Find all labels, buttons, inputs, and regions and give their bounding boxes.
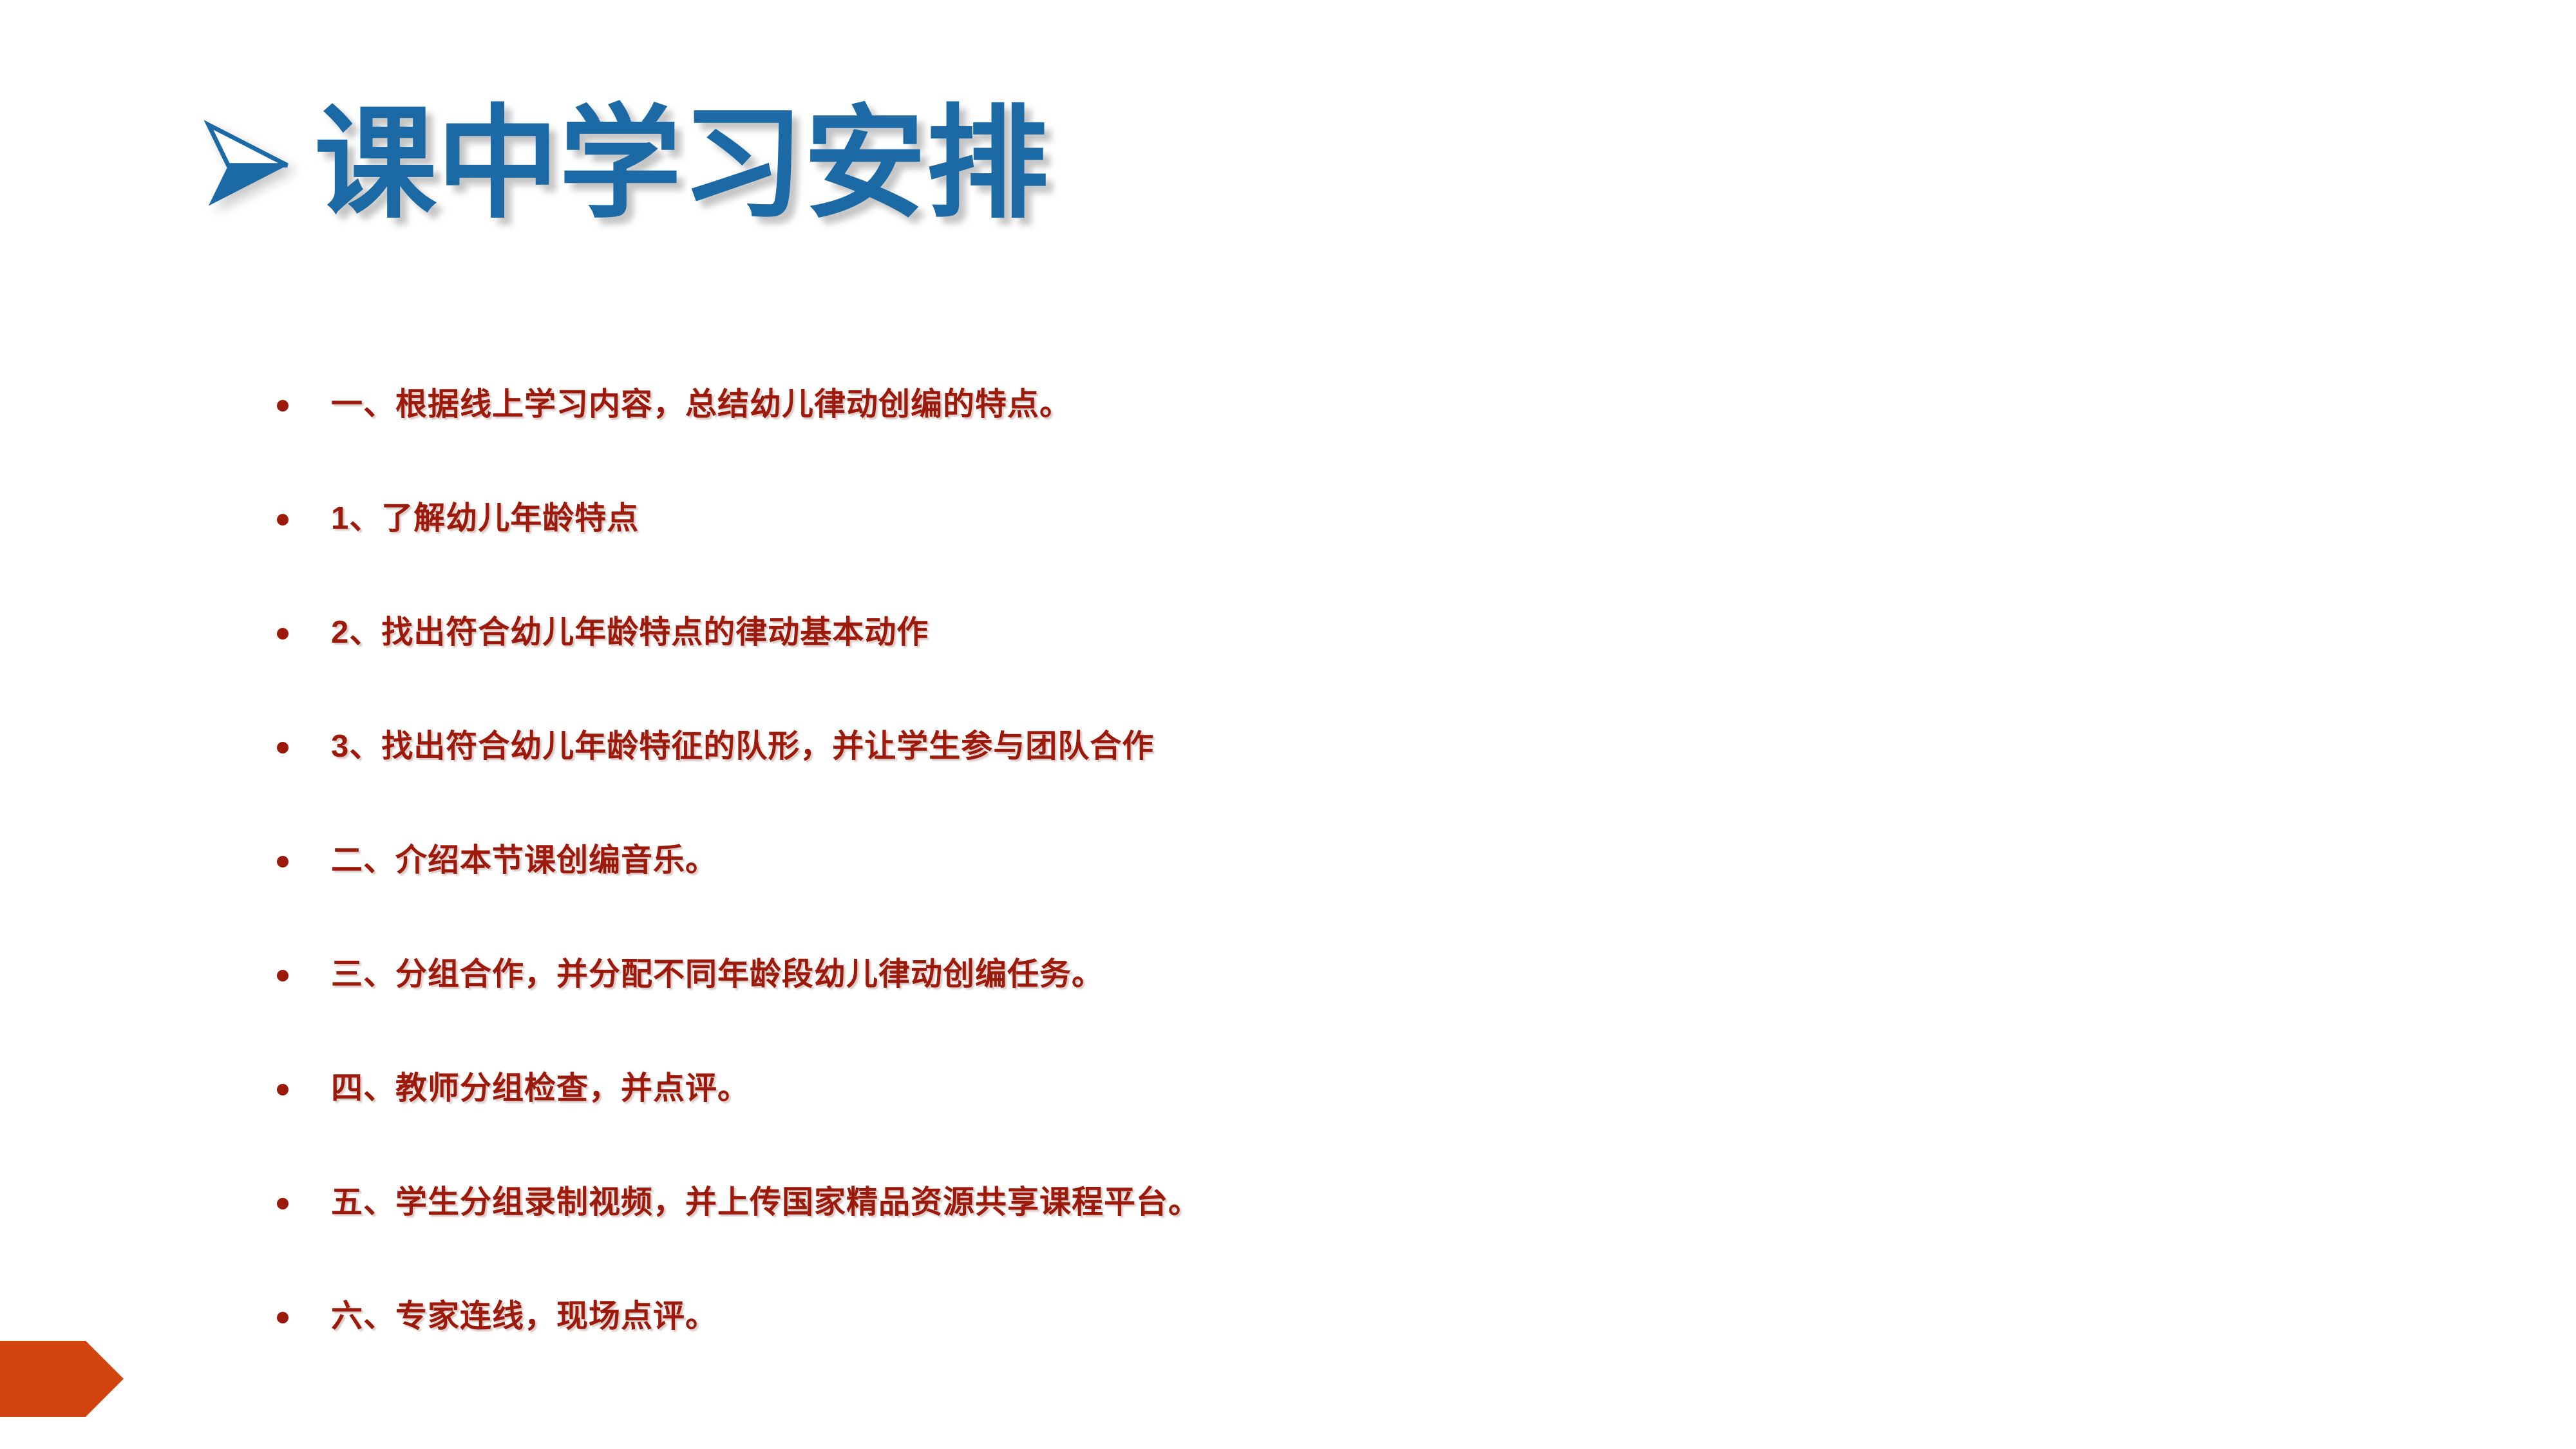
list-item-label: 三、分组合作，并分配不同年龄段幼儿律动创编任务。 xyxy=(331,958,1104,992)
arrow-right-triangle-icon xyxy=(193,109,303,219)
round-dot-bullet-icon xyxy=(277,1084,289,1095)
round-dot-bullet-icon xyxy=(277,742,289,753)
round-dot-bullet-icon xyxy=(277,628,289,639)
round-dot-bullet-icon xyxy=(277,400,289,412)
list-item: 1、了解幼儿年龄特点 xyxy=(277,462,2499,576)
list-item: 3、找出符合幼儿年龄特征的队形，并让学生参与团队合作 xyxy=(277,690,2499,804)
slide-title-row: 课中学习安排 xyxy=(193,103,1048,225)
list-item-label: 一、根据线上学习内容，总结幼儿律动创编的特点。 xyxy=(331,388,1072,422)
list-item: 一、根据线上学习内容，总结幼儿律动创编的特点。 xyxy=(277,348,2499,462)
list-item: 2、找出符合幼儿年龄特点的律动基本动作 xyxy=(277,576,2499,690)
presentation-slide: 课中学习安排 一、根据线上学习内容，总结幼儿律动创编的特点。 1、了解幼儿年龄特… xyxy=(0,0,2576,1449)
round-dot-bullet-icon xyxy=(277,1198,289,1209)
list-item: 二、介绍本节课创编音乐。 xyxy=(277,804,2499,918)
list-item-label: 四、教师分组检查，并点评。 xyxy=(331,1072,750,1106)
round-dot-bullet-icon xyxy=(277,970,289,981)
list-item-label: 3、找出符合幼儿年龄特征的队形，并让学生参与团队合作 xyxy=(331,730,1154,764)
list-item-label: 二、介绍本节课创编音乐。 xyxy=(331,844,717,878)
list-item: 六、专家连线，现场点评。 xyxy=(277,1260,2499,1374)
round-dot-bullet-icon xyxy=(277,514,289,526)
round-dot-bullet-icon xyxy=(277,856,289,867)
list-item-label: 五、学生分组录制视频，并上传国家精品资源共享课程平台。 xyxy=(331,1186,1200,1220)
list-item: 四、教师分组检查，并点评。 xyxy=(277,1032,2499,1146)
bullet-list: 一、根据线上学习内容，总结幼儿律动创编的特点。 1、了解幼儿年龄特点 2、找出符… xyxy=(277,348,2499,1374)
orange-chevron-shape xyxy=(0,1341,124,1417)
list-item-label: 1、了解幼儿年龄特点 xyxy=(331,502,639,536)
list-item-label: 2、找出符合幼儿年龄特点的律动基本动作 xyxy=(331,616,929,650)
round-dot-bullet-icon xyxy=(277,1312,289,1323)
list-item: 三、分组合作，并分配不同年龄段幼儿律动创编任务。 xyxy=(277,918,2499,1032)
list-item-label: 六、专家连线，现场点评。 xyxy=(331,1300,717,1334)
list-item: 五、学生分组录制视频，并上传国家精品资源共享课程平台。 xyxy=(277,1146,2499,1260)
page-title: 课中学习安排 xyxy=(314,103,1048,225)
